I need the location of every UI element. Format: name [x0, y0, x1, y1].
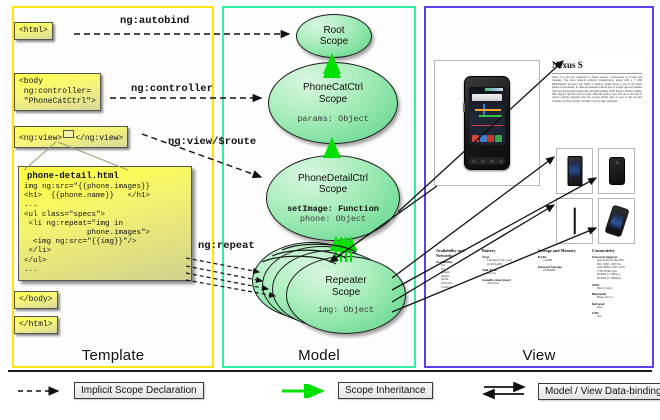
scope-phonedetailctrl-line2: Scope [319, 184, 347, 196]
phone-app-dock [472, 133, 502, 143]
scope-root-line2: Scope [320, 36, 348, 48]
tag-body-close: </body> [14, 291, 58, 309]
spec-value: true [597, 315, 642, 319]
scope-phonedetailctrl-line1: PhoneDetailCtrl [298, 173, 368, 185]
scope-root-line1: Root [323, 25, 344, 37]
scope-repeater-line1: Repeater [325, 275, 366, 287]
spec-values-gps: true [592, 315, 642, 319]
dashed-arrow-icon [16, 384, 68, 398]
spec-values-infrared: false [592, 306, 642, 310]
thumbnail-phone-back[interactable] [598, 148, 635, 194]
legend-item-implicit-scope-declaration: Implicit Scope Declaration [16, 382, 204, 399]
thumb-front-image [567, 156, 582, 186]
hero-image-frame [434, 60, 540, 186]
callout-title: phone-detail.html [19, 167, 191, 183]
edge-label-controller: ng:controller [131, 83, 213, 95]
app-icon-2 [480, 135, 487, 142]
thumb-front-screen [570, 161, 580, 177]
column-label-template: Template [14, 347, 212, 364]
thumb-back-image [609, 157, 625, 185]
view-page-description: Nexus S is the next generation of Nexus … [552, 76, 642, 103]
tag-body-open: <body ng:controller= "PhoneCatCtrl"> [14, 73, 101, 111]
callout-phone-detail: phone-detail.html img ng:src="{{phone.im… [18, 166, 192, 281]
scope-phonecatctrl-line2: Scope [319, 94, 347, 106]
camera-icon [615, 161, 618, 164]
edge-label-route: ng:view/$route [168, 136, 256, 148]
legend-item-model-view-data-binding: Model / View Data-binding [480, 382, 660, 400]
edge-label-autobind: ng:autobind [120, 15, 189, 27]
phone-side-button-icon [463, 103, 465, 112]
spec-value: (1500 mAH) [487, 263, 530, 267]
thumbnail-phone-side[interactable] [556, 198, 593, 244]
spec-value: 6 hours [487, 272, 530, 276]
spec-value: HSUPA (5.76Mbps) [597, 277, 642, 281]
wallpaper-stripe-orange [475, 109, 501, 111]
scope-phonecatctrl-attr-params: params: Object [297, 114, 368, 124]
view-page-title: Nexus S [552, 60, 583, 70]
tag-ngview: <ng:view></ng:view> [14, 126, 128, 148]
spec-value: 512MB [543, 259, 588, 263]
spec-column-battery: Battery Type Lithium Ion (Li-Ion) (1500 … [482, 248, 530, 285]
thumbnail-phone-front[interactable] [556, 148, 593, 194]
spec-values-wifi: 802.11 b/g/n [592, 287, 642, 291]
spec-column-connectivity: Connectivity Network Support Quad-band G… [592, 248, 642, 319]
edge-label-repeat: ng:repeat [198, 240, 255, 252]
legend-divider [8, 370, 652, 372]
scope-phonedetailctrl[interactable]: PhoneDetailCtrl Scope setImage: Function… [266, 155, 400, 241]
column-label-model: Model [224, 347, 414, 364]
ngview-close-label: </ng:view> [75, 134, 123, 143]
thumb-angle-image [604, 205, 629, 238]
legend-item-scope-inheritance: Scope Inheritance [280, 382, 433, 399]
spec-value: 16384MB [543, 269, 588, 273]
spec-column-storage: Storage and Memory RAM 512MB Internal St… [538, 248, 588, 272]
thumb-side-image [573, 208, 576, 235]
spec-column-availability: Availability and Networks Availability M… [436, 248, 472, 289]
spec-values-talk-time: 6 hours [482, 272, 530, 276]
legend-label-model-view-data-binding: Model / View Data-binding [538, 383, 660, 400]
scope-phonecatctrl[interactable]: PhoneCatCtrl Scope params: Object [268, 62, 398, 144]
spec-values-bluetooth: Bluetooth 2.1 [592, 296, 642, 300]
spec-value: 802.11 b/g/n [597, 287, 642, 291]
nav-key-menu-icon [481, 160, 485, 163]
tag-html-close: </html> [14, 316, 58, 334]
scope-phonedetailctrl-attr-setimage: setImage: Function [287, 204, 379, 214]
nav-key-back-icon [472, 160, 476, 163]
solid-arrow-icon [280, 384, 332, 398]
spec-header-availability: Availability and Networks [436, 248, 472, 258]
spec-value: Bluetooth 2.1 [597, 296, 642, 300]
legend-label-scope-inheritance: Scope Inheritance [338, 382, 433, 399]
phone-screen [469, 87, 505, 145]
spec-header-connectivity: Connectivity [592, 248, 642, 253]
scope-repeater[interactable]: Repeater Scope img: Object [286, 256, 406, 334]
nav-key-search-icon [490, 160, 494, 163]
spec-header-storage: Storage and Memory [538, 248, 588, 253]
app-icon-4 [495, 135, 502, 142]
spec-values-standby: 428 hours [482, 282, 530, 286]
scope-phonecatctrl-line1: PhoneCatCtrl [303, 82, 363, 94]
double-arrow-icon [480, 382, 532, 400]
view-rendered-page: Nexus S Nexus S is the next generation o… [432, 56, 644, 338]
thumbnail-phone-angle[interactable] [598, 198, 635, 244]
spec-value: 428 hours [487, 282, 530, 286]
app-icon-1 [472, 135, 479, 142]
scope-phonedetailctrl-attr-phone: phone: Object [300, 214, 366, 224]
phone-search-widget [472, 94, 502, 101]
ngview-open-label: <ng:view> [19, 134, 62, 143]
tag-html-open: <html> [14, 22, 53, 40]
scope-repeater-attr-img: img: Object [318, 305, 374, 315]
ngview-placeholder-icon [63, 130, 74, 138]
legend: Implicit Scope Declaration Scope Inherit… [0, 382, 660, 412]
scope-repeater-line2: Scope [332, 287, 360, 299]
scope-root[interactable]: Root Scope [296, 14, 372, 58]
spec-values-internal-storage: 16384MB [538, 269, 588, 273]
app-icon-3 [487, 135, 494, 142]
spec-value: false [597, 306, 642, 310]
nav-key-home-icon [499, 160, 503, 163]
spec-value: Vodafone [441, 286, 472, 290]
phone-nav-keys [469, 157, 505, 165]
wallpaper-stripe-green [479, 115, 503, 117]
column-label-view: View [426, 347, 652, 364]
spec-header-battery: Battery [482, 248, 530, 253]
spec-values-ram: 512MB [538, 259, 588, 263]
diagram-canvas: Template Model View <html> <body ng:cont… [0, 0, 660, 420]
legend-label-implicit-scope-declaration: Implicit Scope Declaration [74, 382, 204, 399]
wallpaper-stripe-red [471, 125, 503, 126]
spec-values-network-support: Quad-band GSM: 850, 900, 1800, 1900 Tri-… [592, 259, 642, 281]
thumb-angle-screen [609, 213, 624, 230]
title-divider [552, 73, 642, 74]
spec-values-availability: M1 O2 Orange Singtel Sprint T-Mobile Vod… [436, 264, 472, 289]
spec-values-battery-type: Lithium Ion (Li-Ion) (1500 mAH) [482, 259, 530, 266]
callout-code: img ng:src="{{phone.images}} <h1> {{phon… [19, 183, 191, 280]
phone-statusbar-icon [485, 88, 503, 91]
phone-hero-image [464, 76, 510, 170]
